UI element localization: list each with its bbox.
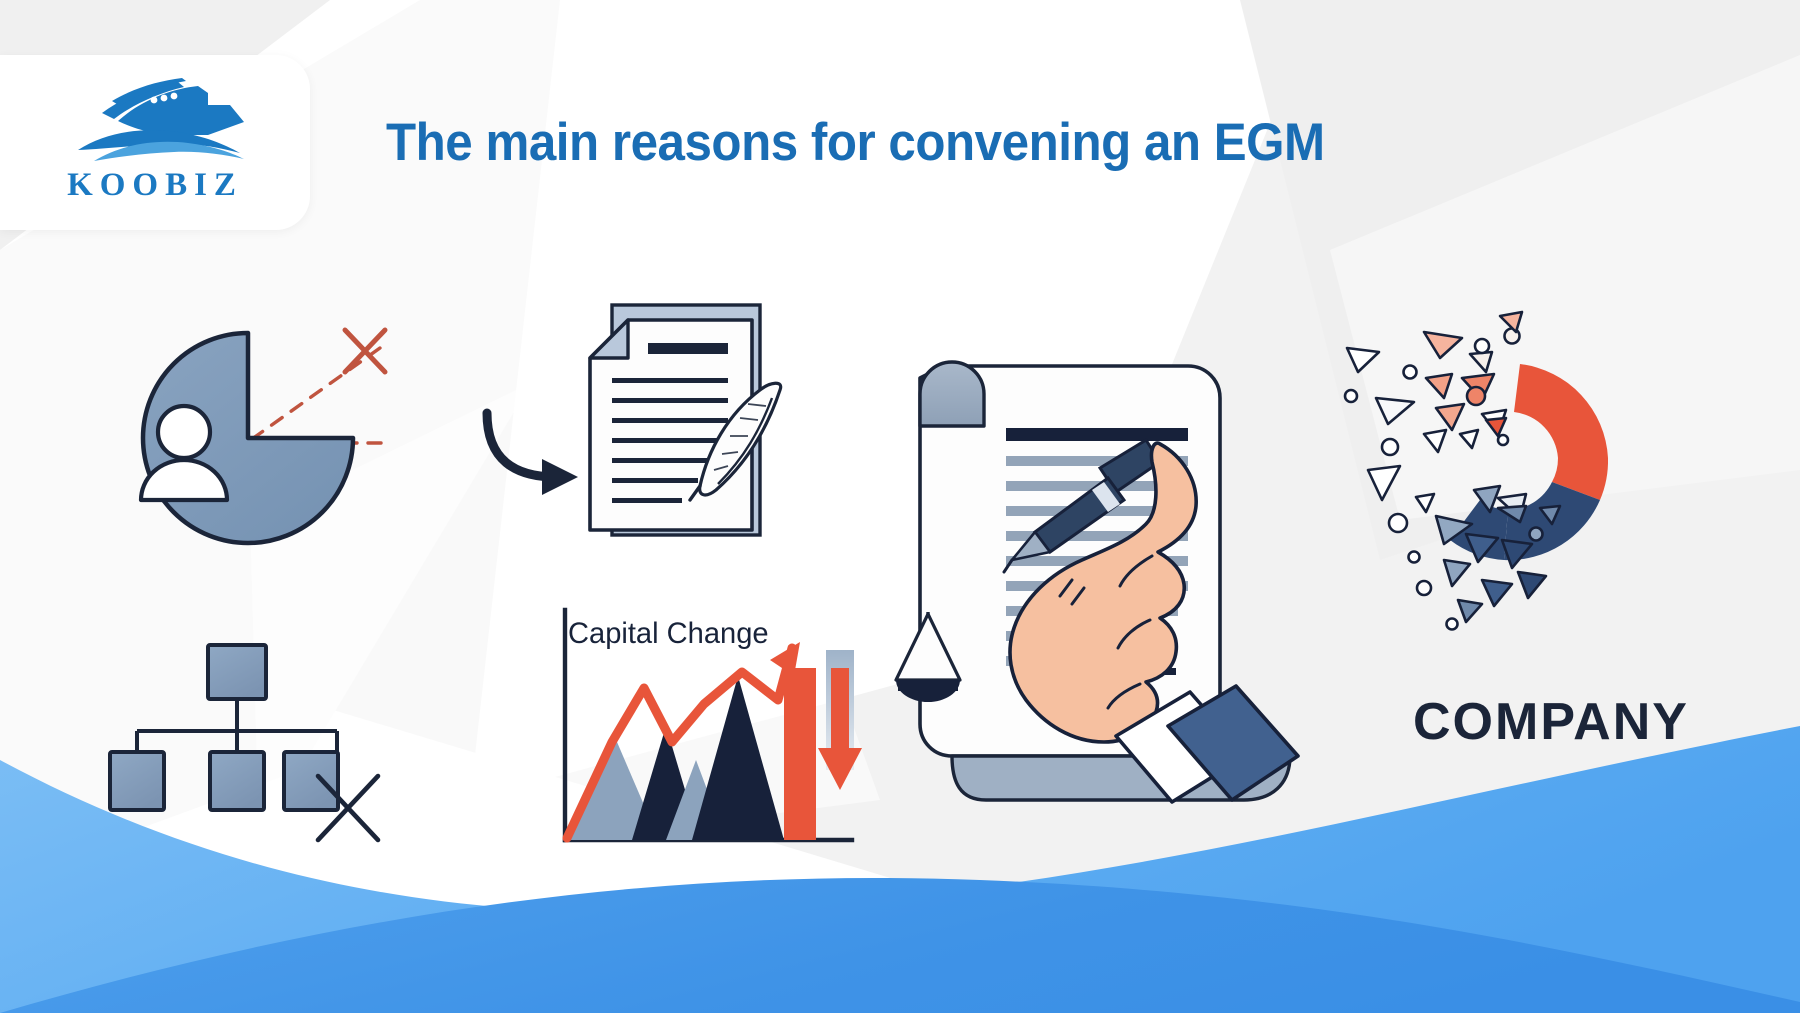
org-parent-node (208, 645, 266, 699)
curved-arrow-icon (487, 413, 578, 495)
scattered-fragments (1345, 312, 1560, 630)
scroll-heading-line (1006, 428, 1188, 441)
dashed-slice-outline (248, 333, 392, 443)
infographic-canvas: KOOBIZ The main reasons for convening an… (0, 0, 1800, 1013)
capital-change-label: Capital Change (568, 617, 769, 651)
legal-document-signing-icon[interactable] (896, 362, 1298, 802)
org-connector-lines (137, 699, 337, 752)
company-wordmark: COMPANY (1413, 692, 1689, 752)
document-quill-icon[interactable] (487, 305, 781, 535)
brand-name: KOOBIZ (0, 167, 310, 204)
org-chart-icon[interactable] (110, 645, 378, 840)
chart-down-arrow-icon (818, 668, 862, 790)
chart-red-bar (784, 668, 816, 840)
red-cross-mark (345, 330, 385, 372)
document-heading-line (648, 343, 728, 354)
document-folded-corner (590, 320, 628, 358)
org-child-node (110, 752, 164, 810)
org-child-node (284, 752, 338, 810)
pie-chart-person-icon[interactable] (141, 330, 392, 543)
page-title: The main reasons for convening an EGM (386, 112, 1325, 173)
ship-wave-logo-icon (58, 77, 268, 165)
scroll-rolled-edge (920, 362, 984, 426)
org-child-node (210, 752, 264, 810)
company-dissolution-icon[interactable] (1345, 312, 1608, 630)
donut-ring-red (1514, 364, 1608, 458)
brand-logo-plate[interactable]: KOOBIZ (0, 55, 310, 230)
